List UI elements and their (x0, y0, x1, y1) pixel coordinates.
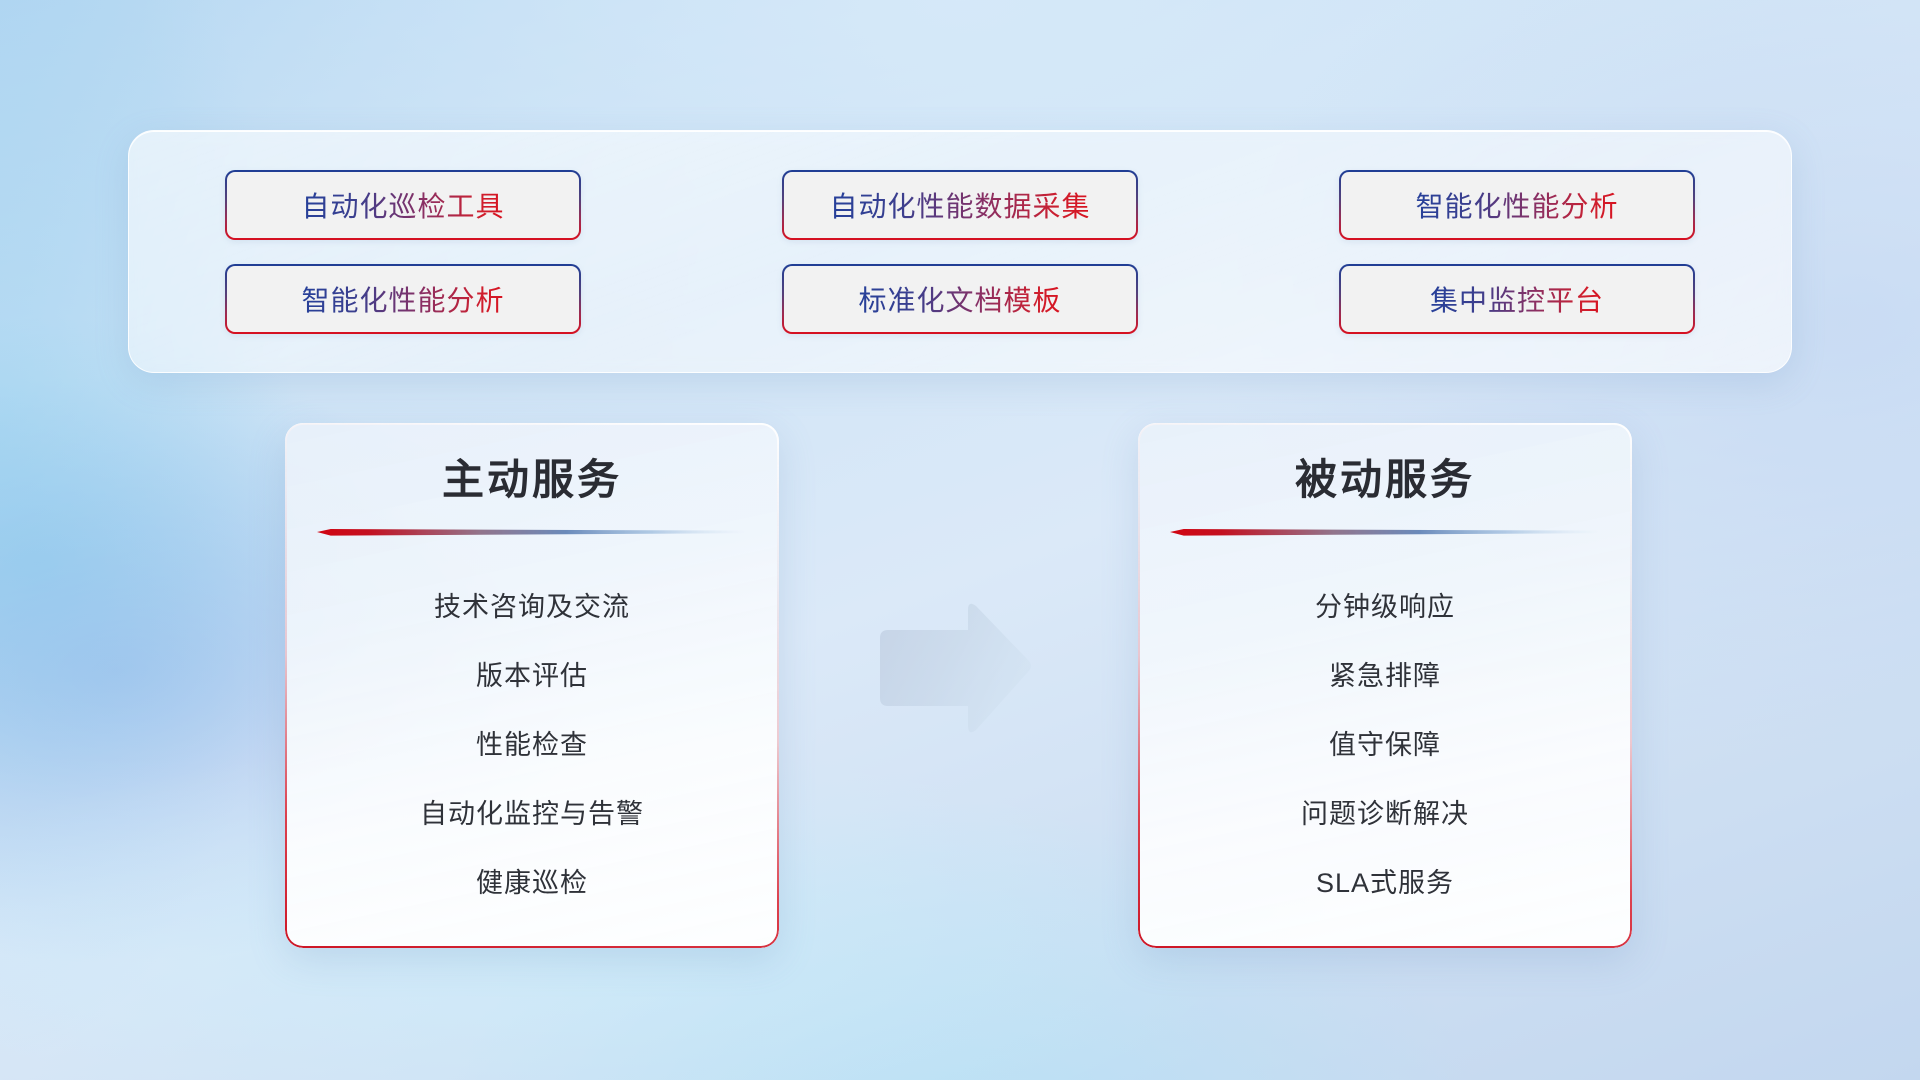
service-item: 分钟级响应 (1164, 573, 1606, 642)
service-item: 健康巡检 (311, 849, 753, 918)
service-item: 技术咨询及交流 (311, 573, 753, 642)
capability-row-2: 智能化性能分析 标准化文档模板 集中监控平台 (225, 264, 1695, 334)
service-item-list: 分钟级响应 紧急排障 值守保障 问题诊断解决 SLA式服务 (1164, 573, 1606, 918)
service-item: SLA式服务 (1164, 849, 1606, 918)
service-item: 自动化监控与告警 (311, 780, 753, 849)
service-item: 值守保障 (1164, 711, 1606, 780)
capability-chip[interactable]: 智能化性能分析 (1339, 170, 1695, 240)
capabilities-panel: 自动化巡检工具 自动化性能数据采集 智能化性能分析 智能化性能分析 标准化文档模… (128, 130, 1792, 373)
service-item: 紧急排障 (1164, 642, 1606, 711)
title-divider (317, 529, 747, 539)
capability-chip-label: 智能化性能分析 (301, 279, 504, 319)
service-item: 性能检查 (311, 711, 753, 780)
service-card-passive: 被动服务 分钟级响应 紧急排障 值守保障 问题诊断解决 SLA式服务 (1138, 423, 1632, 948)
service-item: 问题诊断解决 (1164, 780, 1606, 849)
service-card-title: 主动服务 (311, 457, 753, 503)
capability-chip[interactable]: 自动化巡检工具 (225, 170, 581, 240)
right-arrow-icon (872, 598, 1038, 740)
capability-chip[interactable]: 智能化性能分析 (225, 264, 581, 334)
service-item-list: 技术咨询及交流 版本评估 性能检查 自动化监控与告警 健康巡检 (311, 573, 753, 918)
capability-chip-label: 智能化性能分析 (1415, 185, 1618, 225)
capability-chip-label: 标准化文档模板 (858, 279, 1061, 319)
service-card-title: 被动服务 (1164, 457, 1606, 503)
service-item: 版本评估 (311, 642, 753, 711)
capability-chip[interactable]: 集中监控平台 (1339, 264, 1695, 334)
title-divider (1170, 529, 1600, 539)
service-card-active: 主动服务 技术咨询及交流 版本评估 性能检查 自动化监控与告警 健康巡检 (285, 423, 779, 948)
capability-row-1: 自动化巡检工具 自动化性能数据采集 智能化性能分析 (225, 170, 1695, 240)
capability-chip-label: 自动化巡检工具 (301, 185, 504, 225)
capability-chip[interactable]: 自动化性能数据采集 (782, 170, 1138, 240)
capability-chip[interactable]: 标准化文档模板 (782, 264, 1138, 334)
capability-chip-label: 集中监控平台 (1430, 279, 1604, 319)
capability-chip-label: 自动化性能数据采集 (829, 185, 1090, 225)
